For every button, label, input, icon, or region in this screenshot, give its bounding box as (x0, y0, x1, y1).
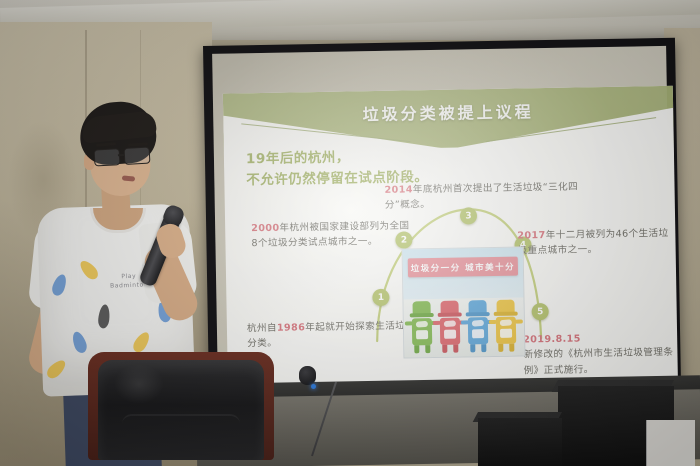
slide-illustration: 垃圾分一分 城市美十分 (402, 246, 526, 358)
shirt-feather-icon (70, 330, 89, 355)
shirt-feather-icon (97, 304, 110, 329)
timeline-text-2000: 2000年杭州被国家建设部列为全国8个垃圾分类试点城市之一。 (251, 218, 412, 251)
timeline-text-1986: 杭州自1986年起就开始探索生活垃圾分类。 (247, 318, 418, 352)
year-1986: 1986 (277, 322, 306, 333)
equipment-box-small (478, 418, 562, 466)
trash-bin-red-icon (438, 301, 461, 353)
timeline-text-2019-body: 新修改的《杭州市生活垃圾管理条例》正式施行。 (523, 345, 678, 378)
desk-microphone-head-icon (299, 366, 316, 385)
timeline-node-1: 1 (372, 289, 389, 306)
illustration-banner: 垃圾分一分 城市美十分 (408, 257, 518, 278)
chair-seam (122, 414, 240, 462)
year-2000: 2000 (251, 223, 280, 234)
timeline-node-5: 5 (532, 303, 549, 320)
shirt-feather-icon (131, 330, 153, 355)
timeline-text-2014-body: 年底杭州首次提出了生活垃圾“三化四分”概念。 (385, 181, 578, 211)
photo-scene: 垃圾分类被提上议程 19年后的杭州， 不允许仍然停留在试点阶段。 1 2 3 4… (0, 0, 700, 466)
timeline-text-2019: 2019.8.15 新修改的《杭州市生活垃圾管理条例》正式施行。 (523, 330, 678, 379)
shirt-feather-icon (50, 273, 69, 298)
desk-microphone-led (311, 384, 316, 389)
shirt-feather-icon (44, 357, 68, 381)
timeline-text-1986-prefix: 杭州自 (247, 323, 277, 335)
office-chair (88, 352, 274, 466)
trash-bin-green-icon (410, 301, 433, 353)
glasses-icon (94, 146, 153, 165)
chair-highlight (114, 364, 164, 404)
year-2014: 2014 (384, 184, 413, 195)
equipment-panel (646, 420, 695, 466)
timeline-text-2014: 2014年底杭州首次提出了生活垃圾“三化四分”概念。 (384, 179, 595, 213)
trash-bin-blue-icon (466, 300, 489, 352)
year-2017: 2017 (517, 230, 546, 241)
timeline-text-2017: 2017年十二月被列为46个生活垃圾重点城市之一。 (517, 226, 678, 259)
trash-bin-yellow-icon (494, 300, 517, 352)
presentation-slide: 垃圾分类被提上议程 19年后的杭州， 不允许仍然停留在试点阶段。 1 2 3 4… (223, 86, 679, 424)
trash-bin-characters (407, 288, 520, 354)
